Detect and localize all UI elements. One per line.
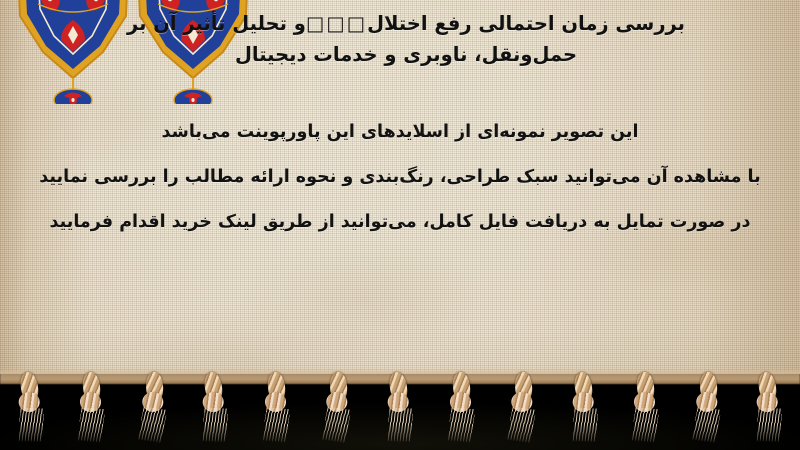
slide-body: این تصویر نمونه‌ای از اسلایدهای این پاور… — [0, 110, 800, 245]
fringe-tassel — [135, 369, 173, 447]
tassel-strands — [755, 408, 783, 443]
tassel-strands — [321, 407, 352, 444]
fringe-tassel — [629, 370, 663, 446]
tassel-strands — [201, 408, 229, 443]
tassel-strands — [17, 408, 45, 443]
body-line-1: این تصویر نمونه‌ای از اسلایدهای این پاور… — [0, 110, 800, 155]
tassel-strands — [446, 407, 475, 443]
fringe-tassel — [75, 370, 109, 446]
tassel-strands — [261, 407, 290, 443]
fringe-tassel — [381, 369, 419, 447]
tassel-strands — [571, 408, 599, 443]
body-line-3: در صورت تمایل به دریافت فایل کامل، می‌تو… — [0, 200, 800, 245]
fringe-tassel — [566, 369, 604, 447]
fringe-tassel — [260, 370, 294, 446]
title-line-1-part1: بررسی زمان احتمالی رفع اختلال — [367, 12, 685, 35]
tassel-strands — [386, 408, 414, 443]
title-line-1: بررسی زمان احتمالی رفع اختلال□□□و تحلیل … — [36, 8, 776, 39]
tassel-strands — [506, 407, 537, 444]
tassel-strands — [77, 407, 106, 443]
fringe-tassel — [319, 369, 357, 447]
fringe-tassel — [445, 370, 479, 446]
missing-glyph-boxes: □□□ — [306, 8, 367, 39]
fringe-tassel — [12, 369, 50, 447]
fringe-tassel — [196, 369, 234, 447]
slide-title: بررسی زمان احتمالی رفع اختلال□□□و تحلیل … — [36, 8, 776, 70]
fringe-tassel — [750, 369, 788, 447]
fringe-tassel — [504, 369, 542, 447]
tassel-strands — [137, 407, 168, 444]
title-line-1-part2: و تحلیل تأثیر آن بر — [127, 12, 306, 35]
tassel-strands — [690, 407, 721, 444]
tassel-strands — [631, 407, 660, 443]
text-layer: بررسی زمان احتمالی رفع اختلال□□□و تحلیل … — [0, 0, 800, 386]
slide-canvas: بررسی زمان احتمالی رفع اختلال□□□و تحلیل … — [0, 0, 800, 450]
title-line-2: حمل‌ونقل، ناوبری و خدمات دیجیتال — [36, 39, 776, 70]
fringe-tassel — [689, 369, 727, 447]
body-line-2: با مشاهده آن می‌توانید سبک طراحی، رنگ‌بن… — [0, 155, 800, 200]
